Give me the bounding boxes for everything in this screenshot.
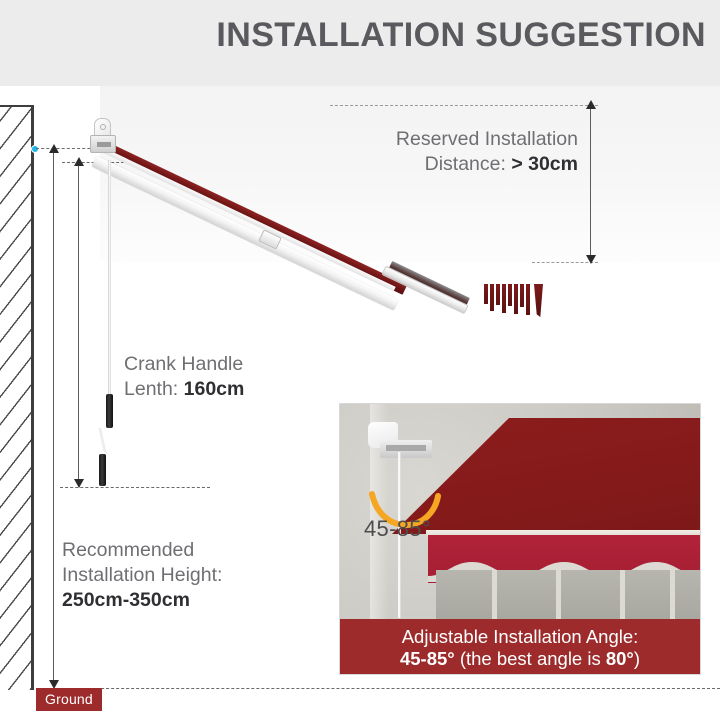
inset-caption-best-angle: 80° bbox=[606, 648, 634, 669]
crank-handle-grip-lower bbox=[99, 454, 106, 486]
dimension-line-reserved-distance bbox=[590, 107, 591, 261]
guide-line-reserved-top bbox=[330, 105, 598, 106]
arrowhead-crank-top bbox=[74, 157, 84, 166]
inset-angle-label: 45-85° bbox=[364, 516, 431, 542]
inset-window-glass bbox=[436, 570, 700, 619]
awning-illustration bbox=[88, 118, 488, 368]
crank-handle-line2-prefix: Lenth: bbox=[124, 378, 184, 400]
ground-line bbox=[36, 688, 720, 689]
valance-strip bbox=[526, 284, 530, 315]
crank-handle-line1: Crank Handle bbox=[124, 353, 243, 375]
wall-anchor-point-marker bbox=[31, 145, 39, 153]
awning-valance-fringe bbox=[482, 284, 552, 318]
installation-height-line2: Installation Height: bbox=[62, 564, 222, 586]
angle-inset-panel: 45-85° Adjustable Installation Angle: 45… bbox=[340, 404, 700, 674]
inset-caption-angle-range: 45-85° bbox=[400, 648, 455, 669]
header-bar: INSTALLATION SUGGESTION bbox=[0, 0, 720, 86]
arrowhead-reserved-top bbox=[586, 100, 596, 109]
crank-handle-value: 160cm bbox=[184, 378, 245, 400]
valance-strip bbox=[496, 284, 500, 305]
installation-height-label: Recommended Installation Height: 250cm-3… bbox=[62, 538, 312, 613]
inset-window-mullion bbox=[620, 570, 625, 619]
wall-bracket bbox=[88, 118, 118, 160]
bracket-bolt-bar bbox=[97, 142, 111, 147]
arrowhead-height-top bbox=[49, 144, 59, 153]
inset-window-mullion bbox=[556, 570, 561, 619]
dimension-line-installation-height bbox=[53, 152, 54, 687]
dimension-line-crank-length bbox=[78, 166, 79, 486]
installation-suggestion-infographic: INSTALLATION SUGGESTION Reserved Install… bbox=[0, 0, 720, 720]
page-title: INSTALLATION SUGGESTION bbox=[216, 16, 706, 55]
reserved-distance-value: > 30cm bbox=[511, 153, 578, 175]
valance-strip bbox=[502, 284, 506, 313]
inset-window-mullion bbox=[670, 570, 675, 619]
crank-handle-rod-upper bbox=[108, 160, 111, 394]
valance-strip bbox=[520, 284, 524, 307]
inset-caption-bar: Adjustable Installation Angle: 45-85° (t… bbox=[340, 619, 700, 674]
crank-handle-label: Crank Handle Lenth: 160cm bbox=[124, 352, 344, 402]
awning-aluminium-arm bbox=[91, 156, 399, 311]
inset-caption-suffix: ) bbox=[634, 648, 640, 669]
valance-strip bbox=[484, 284, 488, 304]
bracket-pivot-icon bbox=[100, 124, 106, 130]
crank-handle-grip-upper bbox=[106, 394, 113, 428]
valance-strip bbox=[514, 284, 518, 314]
valance-end-tail bbox=[534, 284, 543, 317]
installation-height-line1: Recommended bbox=[62, 539, 194, 561]
wall-hatch bbox=[0, 105, 34, 690]
guide-line-crank-bottom bbox=[60, 487, 210, 488]
crank-handle-bend bbox=[98, 428, 114, 454]
inset-caption-middle: (the best angle is bbox=[455, 648, 606, 669]
inset-wall-bracket-bar bbox=[386, 445, 426, 451]
diagram-stage: Reserved Installation Distance: > 30cm bbox=[0, 86, 720, 720]
valance-strip bbox=[490, 284, 494, 311]
inset-caption-line2: 45-85° (the best angle is 80°) bbox=[340, 648, 700, 670]
installation-height-value: 250cm-350cm bbox=[62, 589, 190, 611]
arrowhead-reserved-bottom bbox=[586, 255, 596, 264]
awning-arm-highlight bbox=[103, 148, 396, 291]
ground-badge: Ground bbox=[36, 688, 102, 711]
valance-strip bbox=[508, 284, 512, 306]
inset-window-mullion bbox=[492, 570, 497, 619]
inset-caption-line1: Adjustable Installation Angle: bbox=[340, 626, 700, 648]
